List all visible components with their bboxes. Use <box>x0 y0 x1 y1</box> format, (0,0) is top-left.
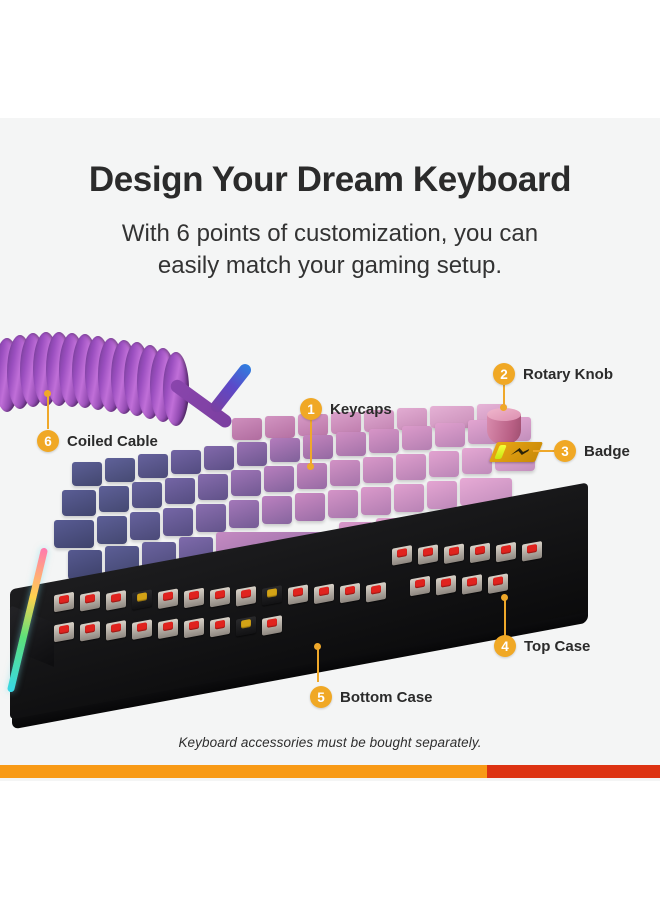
callout-label-top-case: Top Case <box>524 638 590 655</box>
callout-rotary-knob[interactable]: 2 Rotary Knob <box>493 363 613 385</box>
callout-label-keycaps: Keycaps <box>330 401 392 418</box>
bar-segment-orange <box>0 765 487 778</box>
leader-line-rotary-knob <box>503 385 505 407</box>
callout-number-6: 6 <box>37 430 59 452</box>
callout-badge[interactable]: 3 Badge <box>554 440 630 462</box>
callout-top-case[interactable]: 4 Top Case <box>494 635 590 657</box>
leader-line-top-case <box>504 597 506 637</box>
leader-line-bottom-case <box>317 646 319 682</box>
callout-label-coiled-cable: Coiled Cable <box>67 433 158 450</box>
leader-line-coiled-cable <box>47 393 49 429</box>
product-infographic: GMMK Design Your Dream Keyboard With 6 p… <box>0 0 660 900</box>
callout-coiled-cable[interactable]: 6 Coiled Cable <box>37 430 158 452</box>
footer-disclaimer: Keyboard accessories must be bought sepa… <box>0 735 660 750</box>
callout-number-3: 3 <box>554 440 576 462</box>
badge-graphic <box>489 442 543 462</box>
bar-segment-red <box>487 765 660 778</box>
callout-number-2: 2 <box>493 363 515 385</box>
gmmk-logo-icon <box>508 446 533 458</box>
callout-bottom-case[interactable]: 5 Bottom Case <box>310 686 433 708</box>
footer-color-bar <box>0 765 660 778</box>
callout-label-bottom-case: Bottom Case <box>340 689 433 706</box>
callout-number-1: 1 <box>300 398 322 420</box>
callout-label-badge: Badge <box>584 443 630 460</box>
callout-number-5: 5 <box>310 686 332 708</box>
leader-line-keycaps <box>310 420 312 466</box>
callout-label-rotary-knob: Rotary Knob <box>523 366 613 383</box>
callout-number-4: 4 <box>494 635 516 657</box>
callout-keycaps[interactable]: 1 Keycaps <box>300 398 392 420</box>
